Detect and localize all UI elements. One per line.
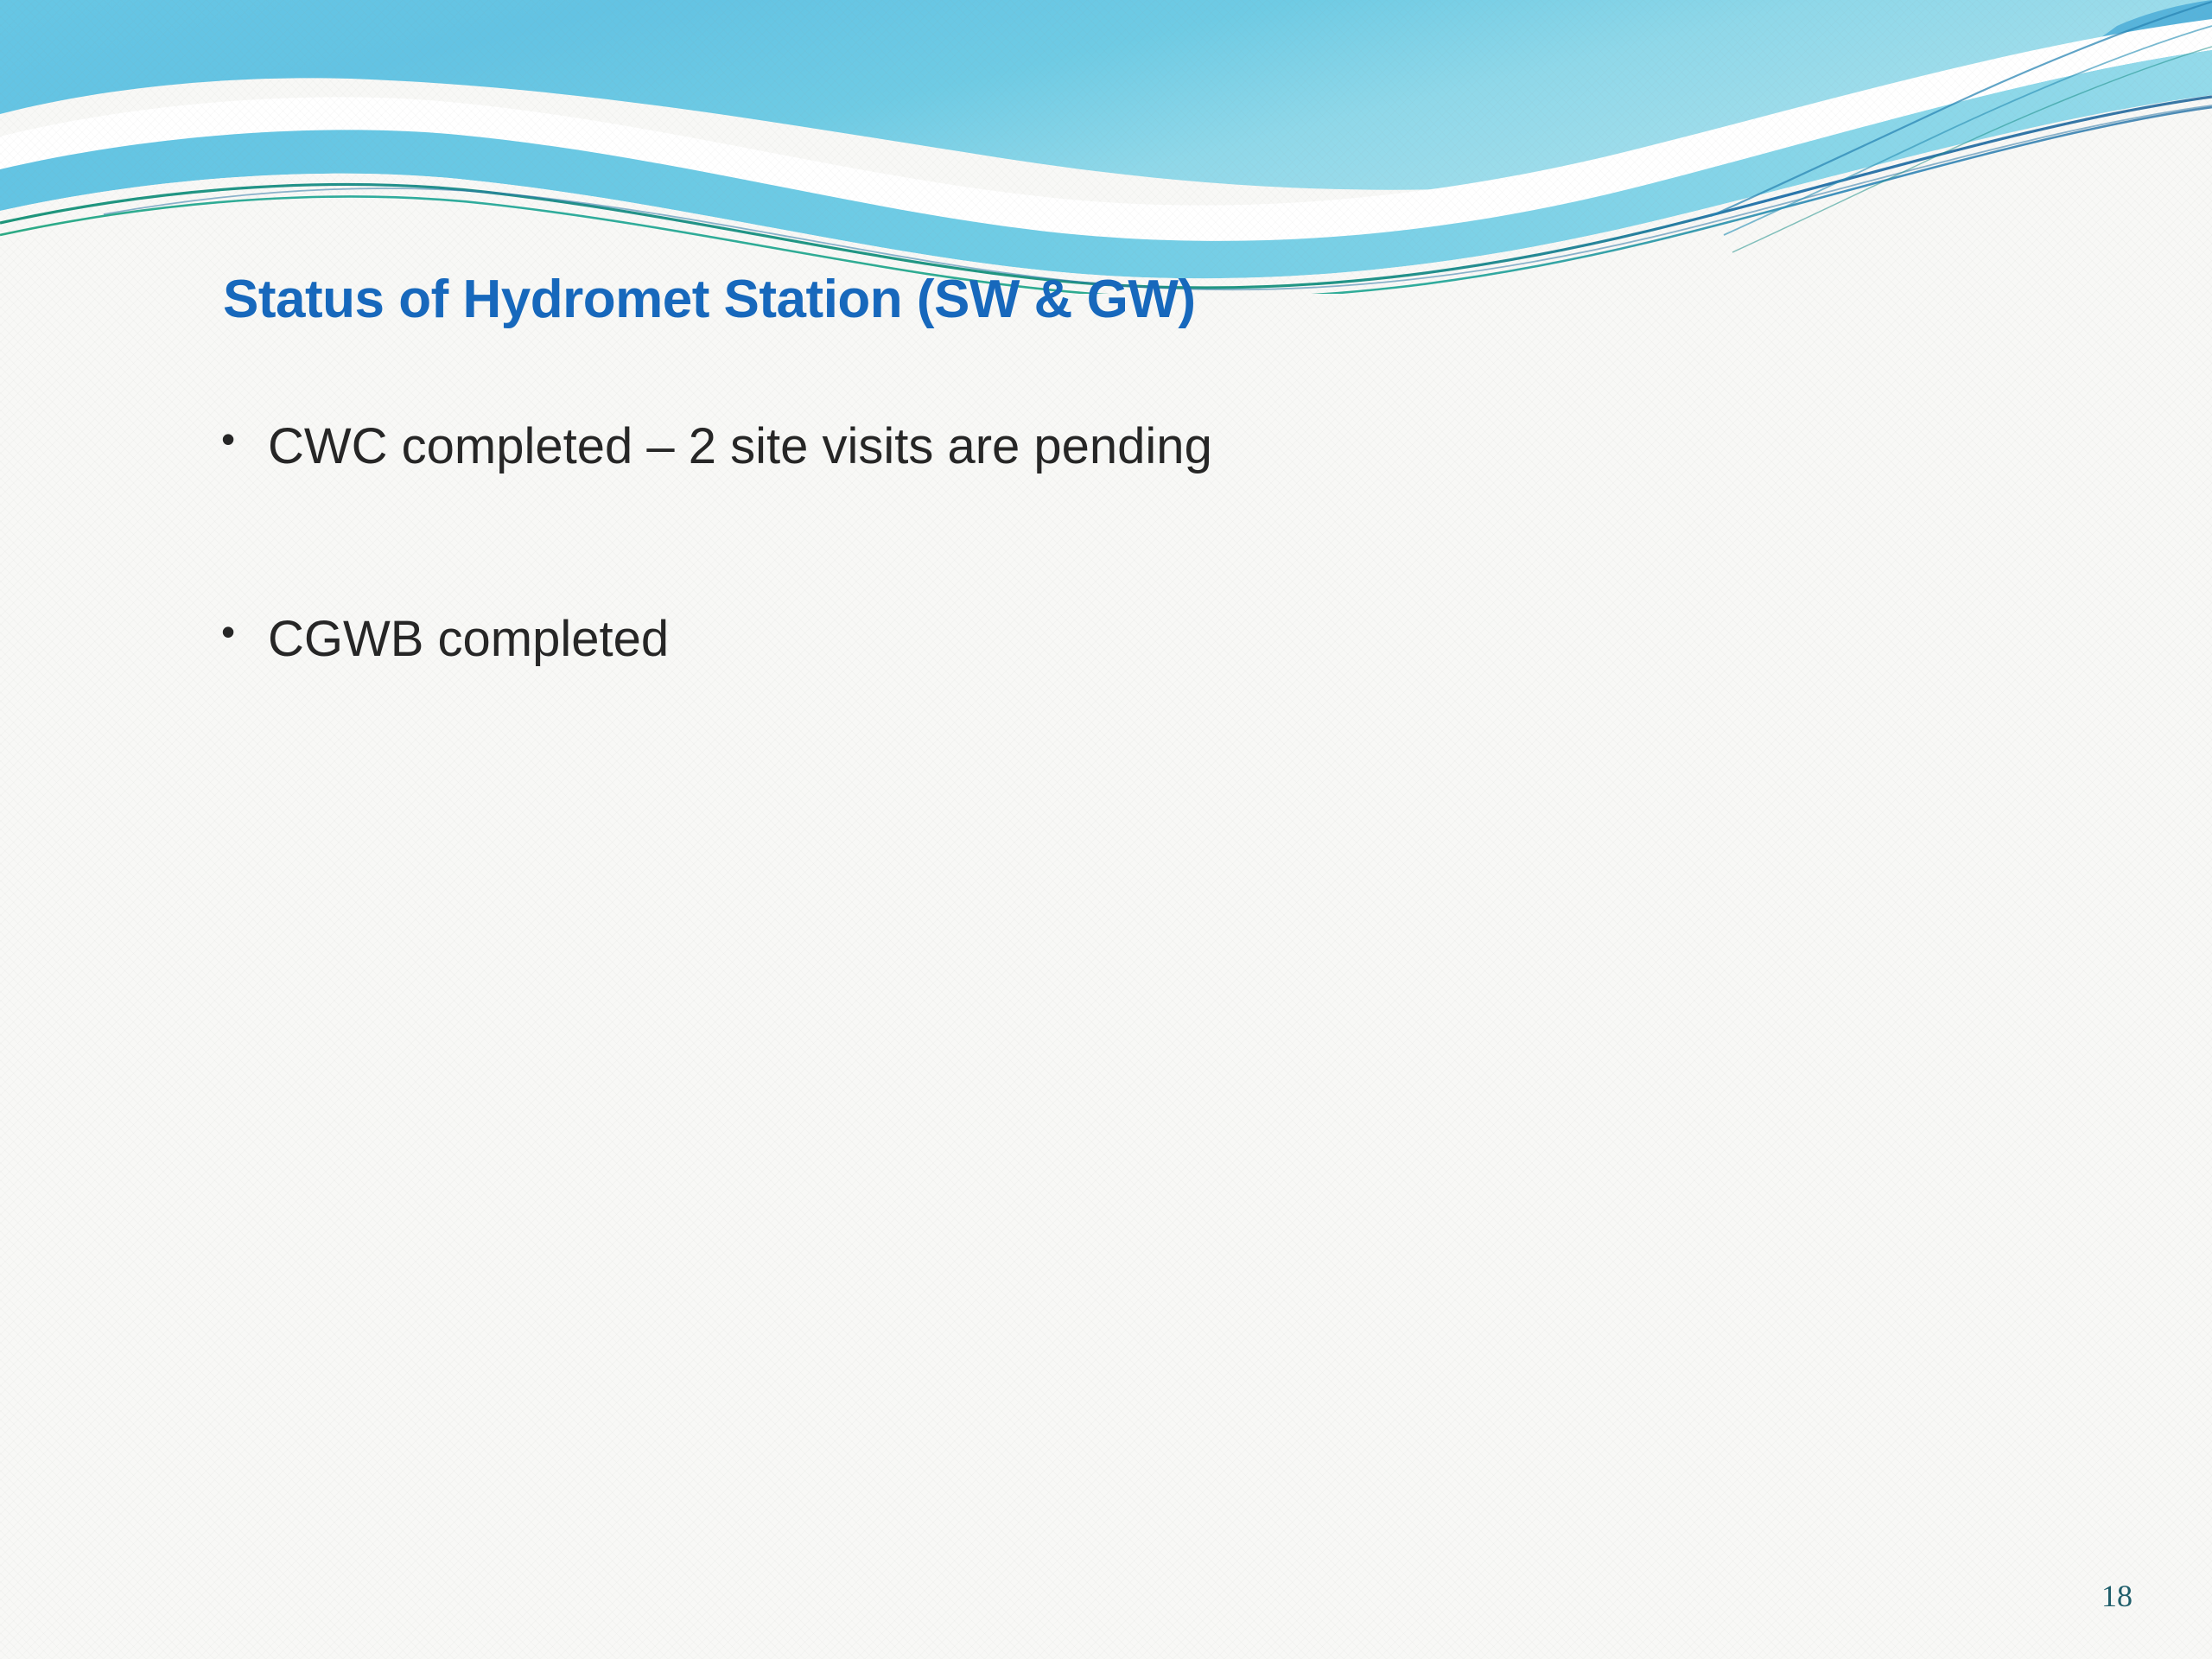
list-item-label: CGWB completed xyxy=(268,611,669,667)
list-item-label: CWC completed – 2 site visits are pendin… xyxy=(268,418,1212,474)
presentation-slide: Status of Hydromet Station (SW & GW) • C… xyxy=(0,0,2212,1659)
bullet-list: • CWC completed – 2 site visits are pend… xyxy=(214,419,1942,804)
slide-content: Status of Hydromet Station (SW & GW) • C… xyxy=(0,0,2212,1659)
list-item: • CWC completed – 2 site visits are pend… xyxy=(214,419,1942,475)
page-number: 18 xyxy=(2101,1578,2133,1614)
bullet-point-icon: • xyxy=(221,610,235,655)
list-item: • CGWB completed xyxy=(214,612,1942,668)
slide-title: Status of Hydromet Station (SW & GW) xyxy=(223,271,1196,327)
bullet-point-icon: • xyxy=(221,417,235,462)
